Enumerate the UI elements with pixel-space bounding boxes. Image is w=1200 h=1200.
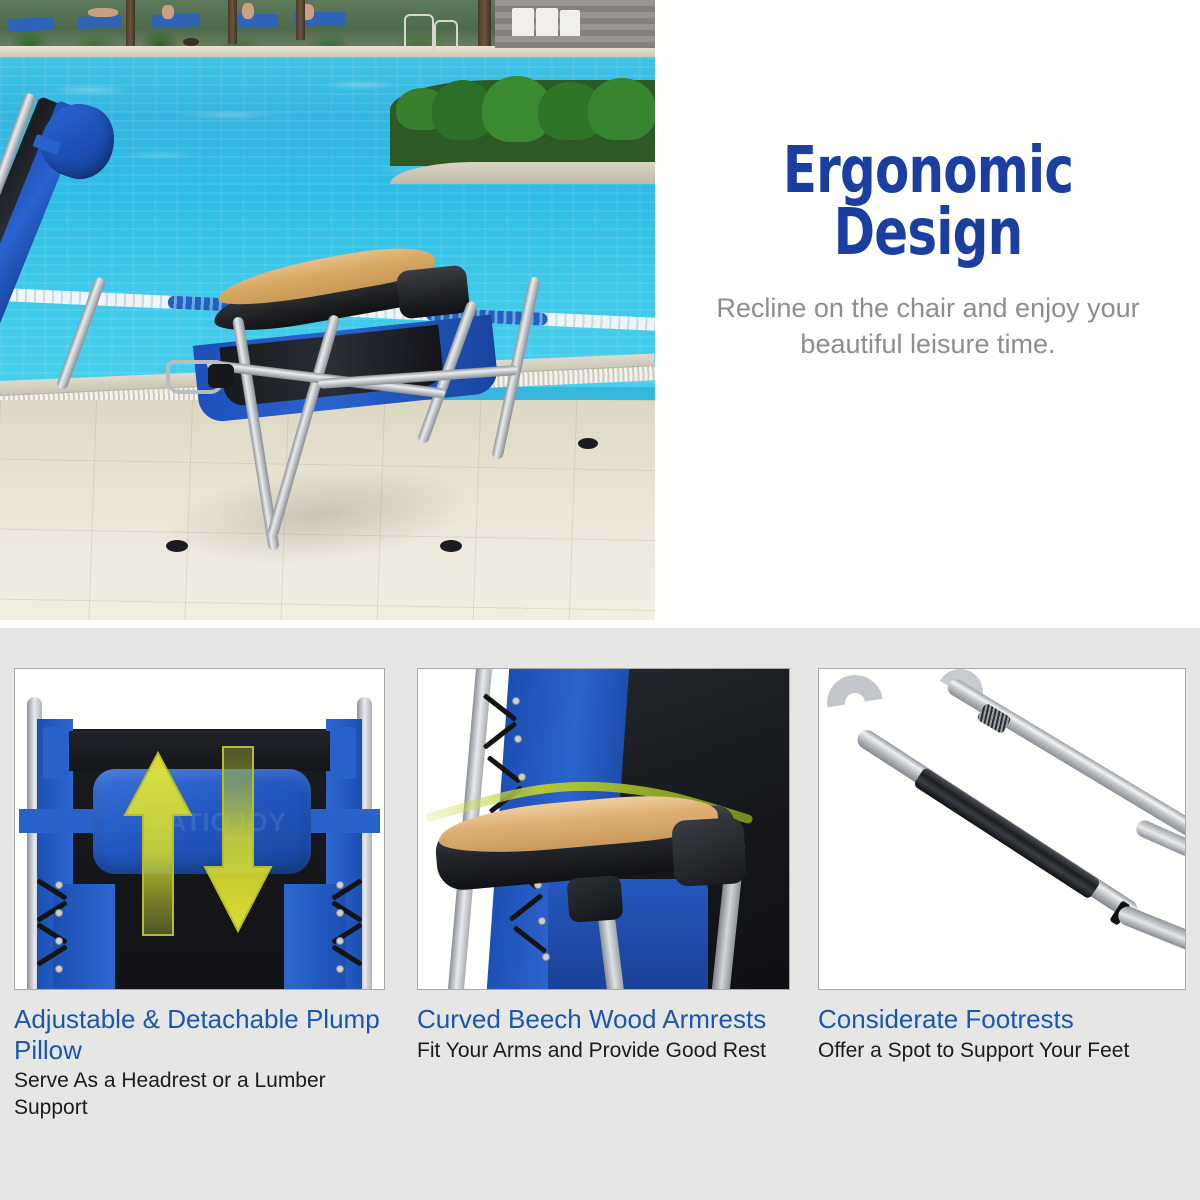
page-title-line2: Design (725, 202, 1131, 264)
features-section: PATIOJOY (0, 628, 1200, 1200)
armrest-hinge (396, 264, 471, 319)
page-title-line1: Ergonomic (725, 140, 1131, 202)
backrest-top-bar (53, 731, 346, 771)
hero-text-block: Ergonomic Design Recline on the chair an… (668, 140, 1188, 363)
grommet (55, 881, 63, 889)
feature-title-armrest: Curved Beech Wood Armrests (417, 1004, 790, 1035)
lock-knob (567, 875, 624, 923)
backrest-tab-left (43, 727, 69, 779)
grommet (55, 909, 63, 917)
lock-knob (208, 364, 234, 388)
recliner-chair (0, 0, 655, 620)
foot-cap (440, 540, 462, 552)
hero-subhead: Recline on the chair and enjoy your beau… (668, 290, 1188, 362)
arrow-down-icon (203, 741, 273, 937)
feature-subtitle-armrest: Fit Your Arms and Provide Good Rest (417, 1038, 790, 1065)
grommet (336, 881, 344, 889)
hero-photo (0, 0, 655, 620)
feature-subtitle-footrest: Offer a Spot to Support Your Feet (818, 1038, 1186, 1065)
grommet (542, 953, 550, 961)
grommet (336, 909, 344, 917)
feature-subtitle-pillow: Serve As a Headrest or a Lumber Support (14, 1068, 385, 1122)
grommet (538, 917, 546, 925)
feature-title-pillow: Adjustable & Detachable Plump Pillow (14, 1004, 385, 1065)
arrow-up-icon (123, 747, 193, 937)
grommet (55, 965, 63, 973)
grommet (336, 937, 344, 945)
feature-card-armrest: Curved Beech Wood Armrests Fit Your Arms… (417, 668, 790, 1065)
backrest-tab-right (330, 727, 356, 779)
feature-image-pillow: PATIOJOY (14, 668, 385, 990)
pillow-strap-left (19, 809, 99, 833)
foot-cap (578, 438, 598, 449)
grommet (512, 697, 520, 705)
armrest-hinge (671, 817, 746, 887)
back-frame-tube (56, 276, 107, 391)
feature-card-footrest: Considerate Footrests Offer a Spot to Su… (818, 668, 1186, 1065)
feature-card-pillow: PATIOJOY (14, 668, 385, 1122)
hero-section: Ergonomic Design Recline on the chair an… (0, 0, 1200, 628)
grommet (55, 937, 63, 945)
feature-image-footrest (818, 668, 1186, 990)
feature-image-armrest (417, 668, 790, 990)
feature-title-footrest: Considerate Footrests (818, 1004, 1186, 1035)
grommet (514, 735, 522, 743)
grommet (336, 965, 344, 973)
foot-cap (166, 540, 188, 552)
